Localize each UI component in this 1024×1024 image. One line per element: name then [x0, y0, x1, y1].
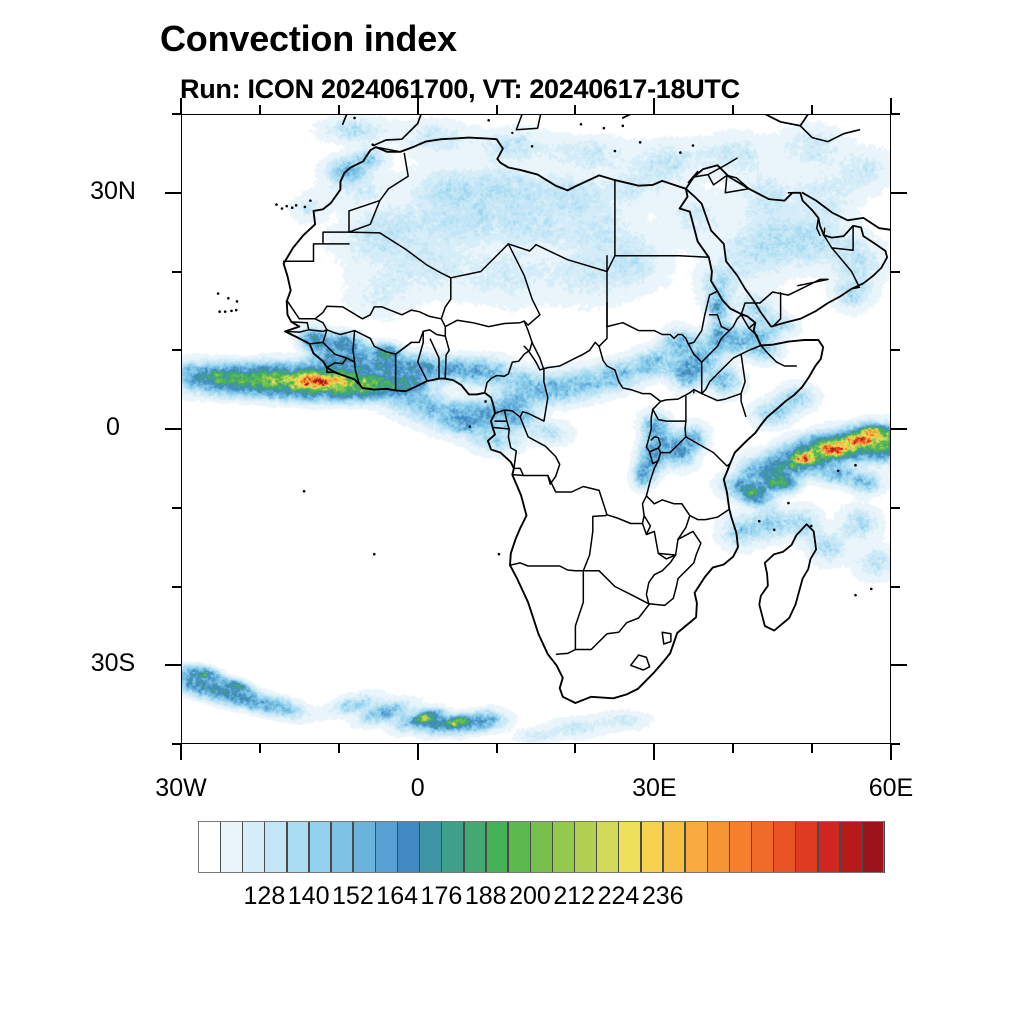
island-marker	[758, 520, 761, 523]
y-tick-right-10	[891, 349, 900, 351]
x-axis-label-60E: 60E	[841, 774, 941, 803]
colorbar-cell	[264, 821, 287, 873]
border-path	[607, 323, 702, 394]
y-tick-right--30	[891, 664, 907, 666]
x-tick--30	[180, 744, 182, 760]
island-marker	[487, 119, 490, 122]
colorbar-cell	[331, 821, 354, 873]
border-path	[353, 331, 355, 363]
island-marker	[787, 502, 790, 505]
island-marker	[353, 117, 356, 120]
y-tick-30	[165, 192, 181, 194]
border-path	[327, 330, 445, 354]
island-marker	[854, 594, 857, 597]
colorbar-cell	[641, 821, 664, 873]
border-path	[798, 279, 828, 285]
island-marker	[303, 490, 306, 493]
y-tick-right-30	[891, 192, 907, 194]
page-title: Convection index	[160, 18, 457, 60]
border-path	[374, 114, 627, 146]
border-path	[485, 321, 532, 393]
border-path	[411, 278, 450, 319]
island-marker	[236, 300, 239, 303]
x-tick-top--10	[338, 105, 340, 114]
island-marker	[837, 469, 840, 472]
island-marker	[224, 310, 227, 313]
border-path	[631, 655, 650, 670]
border-path	[702, 394, 741, 401]
island-marker	[773, 529, 776, 532]
border-path	[760, 279, 828, 303]
colorbar-cell	[397, 821, 420, 873]
border-path	[662, 632, 671, 644]
island-marker	[373, 553, 376, 556]
colorbar-cell	[309, 821, 332, 873]
border-path	[309, 319, 327, 332]
border-path	[694, 158, 737, 177]
border-path	[646, 531, 701, 605]
border-path	[575, 604, 649, 650]
colorbar-cell	[618, 821, 641, 873]
colorbar-cell	[773, 821, 796, 873]
border-path	[349, 232, 380, 233]
y-tick--10	[172, 507, 181, 509]
y-axis-label-0: 0	[63, 413, 163, 442]
border-path	[761, 346, 797, 367]
border-path	[445, 336, 449, 379]
colorbar-cell	[220, 821, 243, 873]
border-path	[495, 342, 548, 421]
border-path	[653, 401, 686, 421]
border-path	[615, 256, 709, 257]
y-tick-right--20	[891, 586, 900, 588]
border-path	[396, 342, 412, 354]
colorbar-cell	[663, 821, 686, 873]
x-tick-top-0	[417, 98, 419, 114]
island-marker	[309, 199, 312, 202]
border-path	[658, 516, 690, 559]
border-path	[824, 228, 825, 235]
run-valid-time-subtitle: Run: ICON 2024061700, VT: 20240617-18UTC	[180, 74, 740, 105]
border-path	[759, 524, 816, 630]
colorbar-cell	[596, 821, 619, 873]
x-tick--10	[338, 744, 340, 753]
border-path	[785, 193, 793, 201]
y-tick--20	[172, 586, 181, 588]
border-path	[803, 193, 891, 230]
colorbar-cell	[419, 821, 442, 873]
x-tick-top-30	[653, 98, 655, 114]
y-tick-right-40	[891, 113, 900, 115]
x-tick-20	[574, 744, 576, 753]
x-tick-top-50	[811, 105, 813, 114]
colorbar-cell	[242, 821, 265, 873]
island-marker	[679, 151, 682, 154]
island-marker	[580, 123, 583, 126]
island-marker	[227, 297, 230, 300]
y-tick-right--40	[891, 743, 900, 745]
border-path	[288, 301, 412, 318]
colorbar-cell	[862, 821, 885, 873]
island-marker	[639, 141, 642, 144]
border-path	[661, 437, 686, 453]
border-path	[685, 396, 730, 466]
border-path	[380, 233, 451, 278]
x-tick-40	[732, 744, 734, 753]
island-marker	[285, 205, 288, 208]
colorbar-cell	[707, 821, 730, 873]
border-path	[441, 319, 445, 336]
island-marker	[295, 204, 298, 207]
island-marker	[468, 425, 471, 428]
colorbar-cell	[574, 821, 597, 873]
island-marker	[614, 150, 617, 153]
x-tick-50	[811, 744, 813, 753]
border-path	[548, 476, 607, 571]
border-path	[284, 138, 824, 703]
y-tick-right-20	[891, 271, 900, 273]
country-borders-overlay	[181, 114, 891, 744]
border-path	[741, 354, 746, 416]
colorbar-cell	[287, 821, 310, 873]
island-marker	[511, 132, 513, 134]
border-path	[508, 244, 540, 315]
colorbar-cell	[751, 821, 774, 873]
colorbar-cell	[552, 821, 575, 873]
x-tick-top-10	[496, 105, 498, 114]
border-path	[343, 114, 446, 124]
border-path	[310, 330, 327, 344]
y-axis-label-30N: 30N	[63, 177, 163, 206]
border-path	[686, 165, 887, 326]
island-marker	[484, 400, 487, 403]
colorbar-cell	[486, 821, 509, 873]
border-path	[800, 126, 859, 142]
x-tick-top--30	[180, 98, 182, 114]
border-path	[643, 516, 645, 524]
border-path	[430, 339, 439, 378]
border-path	[599, 346, 694, 401]
colorbar-cell	[530, 821, 553, 873]
border-path	[623, 114, 808, 126]
island-marker	[692, 144, 695, 147]
x-axis-label-30E: 30E	[604, 774, 704, 803]
border-path	[514, 417, 560, 484]
border-path	[504, 410, 516, 468]
map-plot-area	[181, 114, 891, 744]
island-marker	[281, 207, 284, 210]
x-tick-top-40	[732, 105, 734, 114]
y-tick-right--10	[891, 507, 900, 509]
y-tick--40	[172, 743, 181, 745]
island-marker	[498, 553, 501, 556]
y-tick-20	[172, 271, 181, 273]
island-marker	[810, 525, 813, 528]
island-marker	[218, 310, 221, 313]
border-path	[418, 342, 427, 381]
colorbar-cell	[353, 821, 376, 873]
island-marker	[275, 203, 278, 206]
x-tick-top--20	[259, 105, 261, 114]
border-path	[607, 180, 615, 271]
y-tick-40	[172, 113, 181, 115]
border-path	[510, 563, 649, 604]
x-axis-label-30W: 30W	[131, 774, 231, 803]
island-marker	[217, 292, 220, 295]
x-tick-30	[653, 744, 655, 760]
colorbar-cell	[840, 821, 863, 873]
island-marker	[870, 588, 873, 591]
border-path	[705, 291, 718, 315]
island-marker	[304, 206, 307, 209]
border-path	[607, 515, 646, 535]
x-tick-top-20	[574, 105, 576, 114]
y-tick-10	[172, 349, 181, 351]
colorbar-cell	[795, 821, 818, 873]
x-tick-60	[890, 744, 892, 760]
border-path	[646, 461, 729, 520]
x-axis-label-0: 0	[368, 774, 468, 803]
colorbar	[198, 821, 884, 873]
island-marker	[531, 145, 534, 148]
y-tick-0	[165, 428, 181, 430]
border-path	[524, 303, 607, 370]
border-path	[557, 571, 584, 654]
island-marker	[621, 125, 624, 128]
colorbar-cell	[375, 821, 398, 873]
island-marker	[854, 464, 857, 467]
border-path	[516, 114, 563, 130]
colorbar-cell	[729, 821, 752, 873]
x-tick--20	[259, 744, 261, 753]
border-path	[688, 315, 705, 344]
y-axis-label-30S: 30S	[63, 649, 163, 678]
colorbar-cell	[508, 821, 531, 873]
colorbar-cell	[685, 821, 708, 873]
border-path	[512, 468, 514, 474]
island-marker	[291, 206, 294, 209]
island-marker	[230, 310, 233, 313]
x-tick-10	[496, 744, 498, 753]
border-path	[832, 248, 860, 289]
x-tick-0	[417, 744, 419, 760]
border-path	[710, 315, 730, 331]
y-tick-right-0	[891, 428, 907, 430]
y-tick--30	[165, 664, 181, 666]
border-path	[749, 189, 769, 199]
border-path	[643, 496, 676, 555]
border-path	[536, 245, 607, 303]
border-path	[284, 211, 349, 261]
colorbar-cell	[198, 821, 221, 873]
colorbar-cell	[464, 821, 487, 873]
colorbar-tick-label: 236	[623, 882, 703, 911]
border-path	[646, 409, 660, 452]
border-path	[493, 427, 510, 429]
colorbar-cell	[818, 821, 841, 873]
island-marker	[235, 309, 238, 312]
island-marker	[603, 127, 606, 130]
island-marker	[371, 143, 374, 146]
colorbar-cell	[441, 821, 464, 873]
border-path	[773, 293, 781, 327]
x-tick-top-60	[890, 98, 892, 114]
